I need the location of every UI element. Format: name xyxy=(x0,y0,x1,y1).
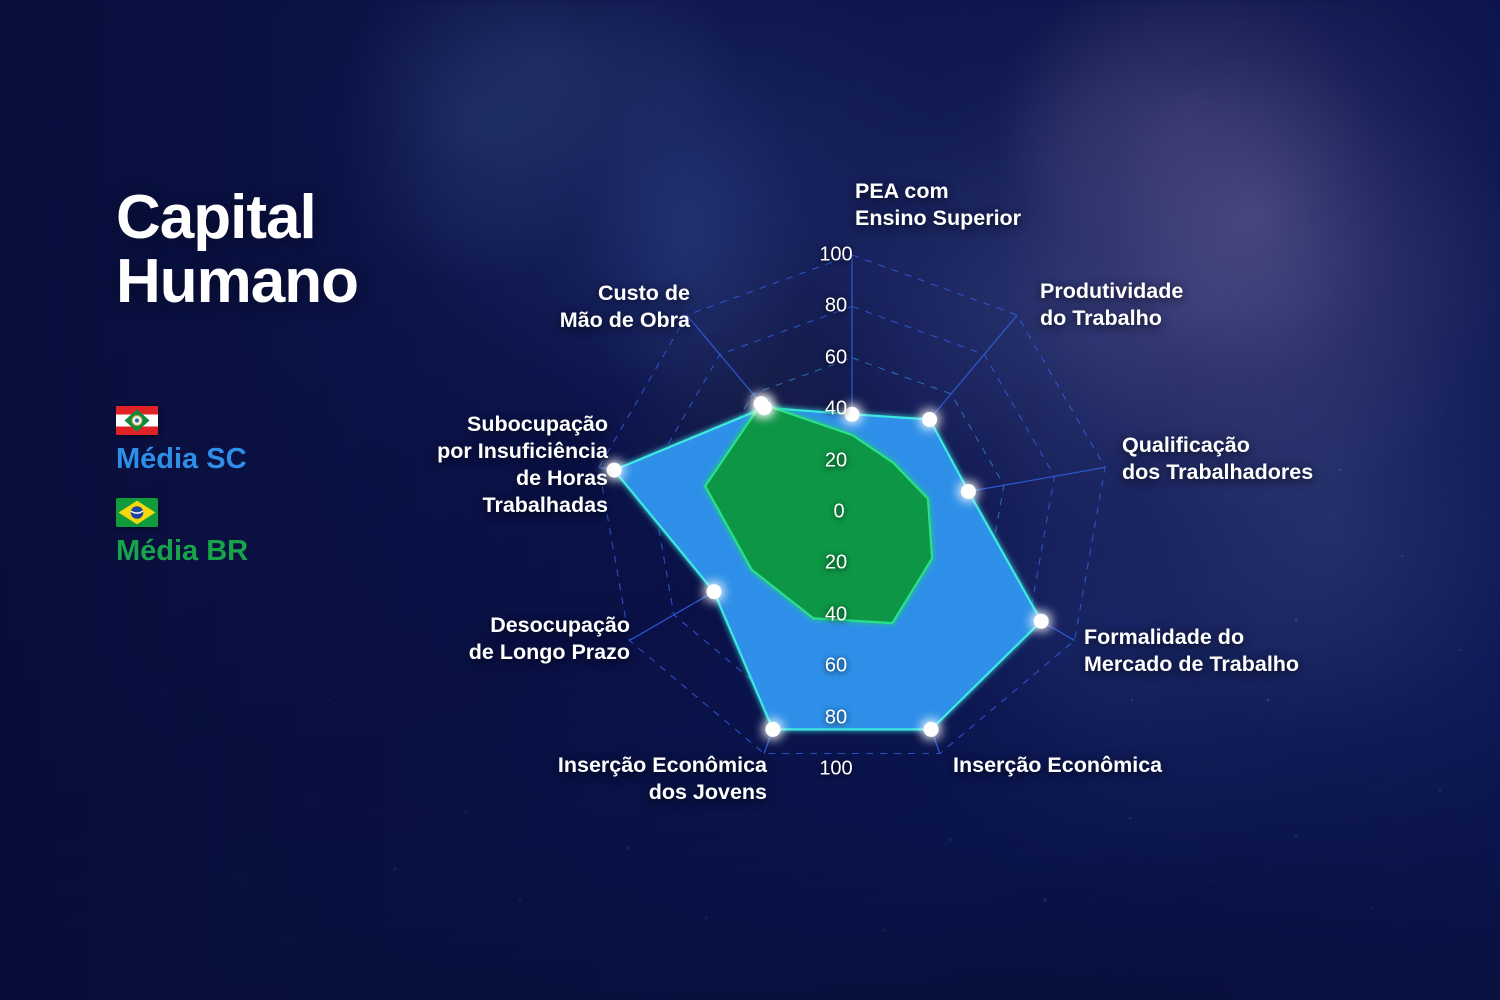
tick-label-down-40: 40 xyxy=(825,603,847,626)
axis-label-insercao-economica: Inserção Econômica xyxy=(953,752,1162,779)
radar-chart xyxy=(0,0,1500,1000)
axis-label-produtividade-trabalho: Produtividade do Trabalho xyxy=(1040,278,1183,332)
tick-label-up-40: 40 xyxy=(825,398,847,421)
axis-label-pea-ensino-superior: PEA com Ensino Superior xyxy=(855,178,1021,232)
axis-label-subocupacao-insuficiencia-horas: Subocupação por Insuficiência de Horas T… xyxy=(437,411,608,519)
axis-label-qualificacao-trabalhadores: Qualificação dos Trabalhadores xyxy=(1122,432,1313,486)
tick-label-up-20: 20 xyxy=(825,449,847,472)
axis-label-insercao-economica-jovens: Inserção Econômica dos Jovens xyxy=(558,752,767,806)
tick-label-up-100: 100 xyxy=(819,244,852,267)
tick-label-down-20: 20 xyxy=(825,552,847,575)
tick-label-down-100: 100 xyxy=(819,758,852,781)
tick-label-down-80: 80 xyxy=(825,706,847,729)
tick-label-down-60: 60 xyxy=(825,655,847,678)
axis-label-desocupacao-longo-prazo: Desocupação de Longo Prazo xyxy=(469,612,630,666)
axis-label-custo-mao-de-obra: Custo de Mão de Obra xyxy=(560,280,690,334)
tick-label-up-60: 60 xyxy=(825,346,847,369)
axis-label-formalidade-mercado-trabalho: Formalidade do Mercado de Trabalho xyxy=(1084,624,1299,678)
tick-label-up-80: 80 xyxy=(825,295,847,318)
tick-label-up-0: 0 xyxy=(833,501,844,524)
